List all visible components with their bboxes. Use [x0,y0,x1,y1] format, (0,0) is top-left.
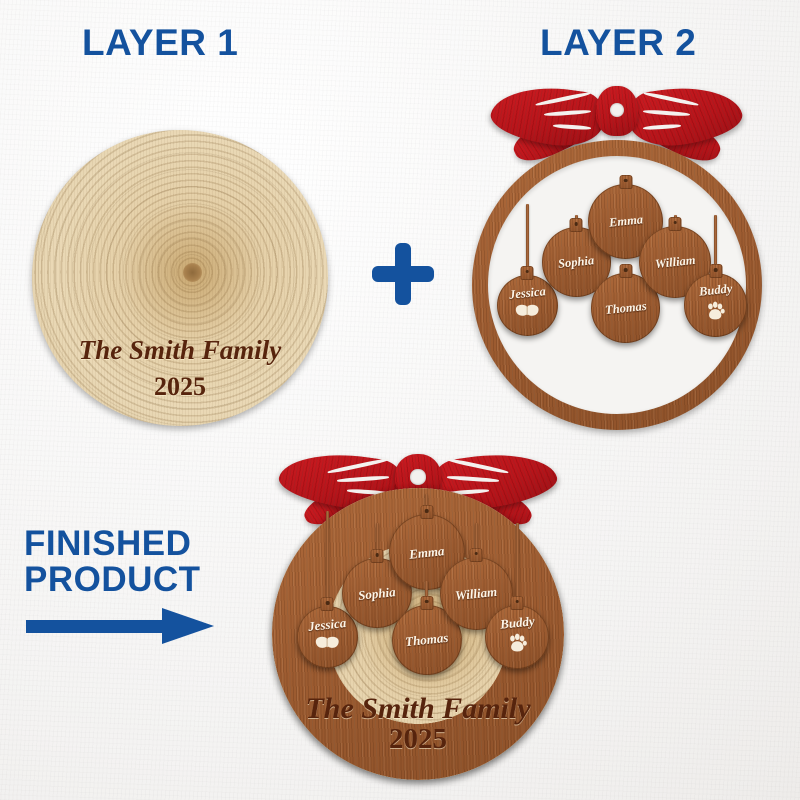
bauble-cap [669,217,682,231]
slice-year: 2025 [32,372,328,402]
bauble-cap [511,596,524,610]
finished-product-heading: FINISHED PRODUCT [24,526,201,597]
bauble-cap [420,505,433,519]
plus-icon [372,243,434,305]
bauble-eyelet [425,600,429,604]
angel-wings-icon [315,635,340,655]
bauble-eyelet [375,553,379,557]
wood-knot [183,263,202,282]
ornament-hanger-string [326,511,329,607]
bauble-eyelet [624,179,628,183]
bauble-name-label: William [455,584,498,601]
bauble-eyelet [624,268,628,272]
right-arrow-icon [26,608,216,644]
bauble-cap [709,264,722,278]
bauble-name-label: Buddy [499,614,535,631]
bauble-name-label: Thomas [604,300,647,317]
bauble-name-label: Sophia [358,585,397,602]
hanging-hole [610,103,624,117]
bauble-cap [521,266,534,280]
bauble-name-label: Buddy [698,283,732,299]
layer-2-ornament-frame: JessicaSophiaEmmaThomasWilliamBuddy [472,140,762,430]
bauble-eyelet [475,552,479,556]
angel-wings-icon [515,303,539,323]
bauble-name-label: Sophia [558,254,595,270]
arrow-head [162,608,214,644]
paw-print-icon [705,301,725,321]
bauble-eyelet [525,270,529,274]
finished-year: 2025 [272,723,564,756]
bauble-name-label: Jessica [308,616,347,633]
bauble-name-label: William [654,253,696,270]
ornament-hanger-string [516,523,519,606]
bauble-cap [470,548,483,562]
bauble-cap [420,596,433,610]
bauble-eyelet [515,600,519,604]
name-bauble[interactable]: Jessica [297,606,358,667]
name-bauble[interactable]: Jessica [497,275,558,336]
bauble-eyelet [575,222,579,226]
bauble-eyelet [673,221,677,225]
bauble-eyelet [326,601,330,605]
paw-print-icon [507,633,528,654]
bauble-eyelet [425,509,429,513]
name-bauble[interactable]: Buddy [684,273,748,337]
bauble-cap [570,218,583,232]
layer-2-heading: LAYER 2 [540,24,696,62]
plus-bar-vertical [395,243,411,305]
bauble-cap [321,597,334,611]
finished-family-name: The Smith Family [272,692,564,726]
bauble-name-label: Emma [608,213,643,229]
bauble-eyelet [714,268,718,272]
bauble-name-label: Thomas [405,631,449,648]
wood-slice-disc: The Smith Family 2025 [32,130,328,426]
slice-family-name: The Smith Family [32,335,328,366]
hanging-hole [410,469,425,484]
bauble-name-label: Emma [408,544,445,561]
bauble-cap [619,175,632,189]
bauble-cap [371,549,384,563]
bauble-cap [619,264,632,278]
bauble-name-label: Jessica [508,285,546,301]
finished-product-ornament: JessicaSophiaEmmaThomasWilliamBuddyThe S… [258,450,578,790]
layer-1-wood-slice: The Smith Family 2025 [32,130,328,426]
arrow-shaft [26,620,168,633]
layer-1-heading: LAYER 1 [82,24,238,62]
angel-wings-icon [315,635,340,650]
paw-print-icon [507,633,528,659]
angel-wings-icon [515,303,539,318]
paw-print-icon [705,301,725,326]
name-bauble[interactable]: Buddy [485,605,549,669]
